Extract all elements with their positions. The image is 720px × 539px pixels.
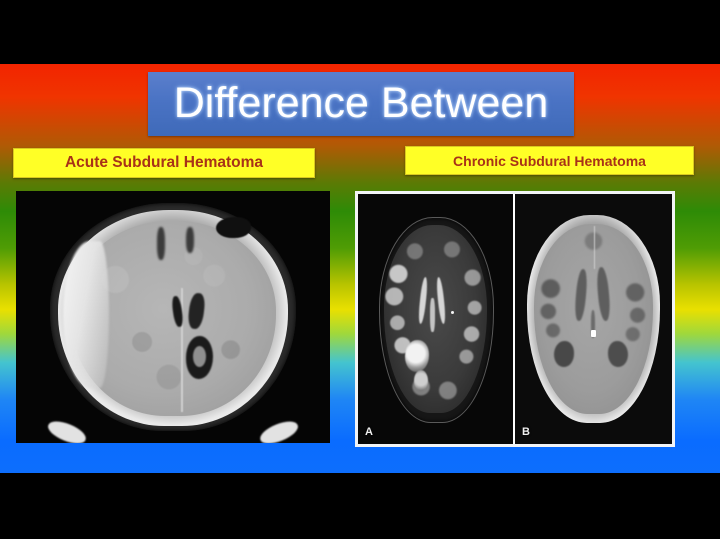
caption-acute-subdural-hematoma: Acute Subdural Hematoma (13, 148, 315, 178)
gyral-pattern (384, 225, 486, 414)
hyperdense-subdural-crescent (63, 241, 109, 389)
frontal-extra-axial-collection (216, 217, 251, 238)
slide-canvas: Difference Between Acute Subdural Hemato… (0, 0, 720, 539)
letterbox-bar-top (0, 0, 720, 64)
ct-head-axial-b (523, 211, 665, 427)
temporal-horn-right (608, 341, 628, 367)
chronic-subdural-hematoma-scan: A B (355, 191, 675, 447)
scan-panel-a: A (358, 194, 515, 444)
mri-brain-axial-a (372, 213, 500, 425)
temporal-horn-left (554, 341, 574, 367)
calcified-pineal-focus (591, 330, 596, 337)
interhemispheric-cleft-right (186, 227, 194, 253)
letterbox-bar-bottom (0, 473, 720, 539)
chronic-collection-lesion (405, 340, 429, 372)
scan-label-b: B (522, 426, 530, 438)
skull-base-fragment-right (257, 417, 301, 443)
caption-right-label: Chronic Subdural Hematoma (453, 153, 646, 169)
falx-cerebri (181, 288, 183, 412)
page-title: Difference Between (148, 72, 574, 136)
acute-subdural-hematoma-scan (16, 191, 330, 443)
skull-base-fragment-left (45, 417, 89, 443)
scan-label-a: A (365, 426, 373, 438)
title-banner: Difference Between (148, 72, 574, 136)
scan-panel-b: B (515, 194, 672, 444)
interhemispheric-cleft-left (157, 227, 165, 260)
caption-left-label: Acute Subdural Hematoma (65, 154, 263, 172)
ct-head-axial-acute (39, 198, 307, 436)
caption-chronic-subdural-hematoma: Chronic Subdural Hematoma (405, 146, 694, 175)
falx-cerebri (594, 226, 595, 269)
